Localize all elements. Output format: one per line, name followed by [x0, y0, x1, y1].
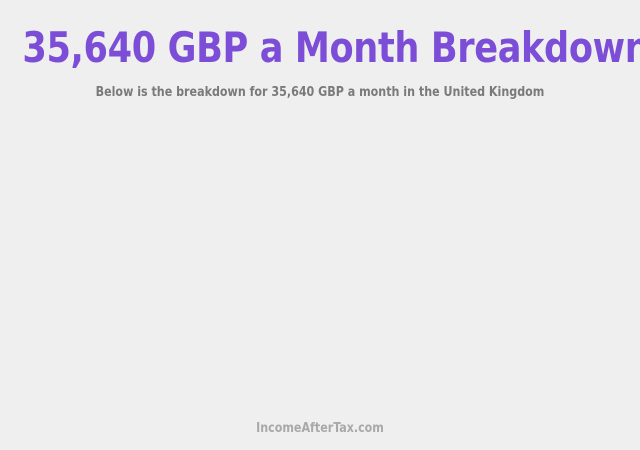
footer-watermark: IncomeAfterTax.com	[16, 421, 624, 437]
page-title: 35,640 GBP a Month Breakdown	[22, 24, 617, 72]
breakdown-page: 35,640 GBP a Month Breakdown Below is th…	[0, 0, 640, 450]
chart-region	[0, 112, 640, 412]
page-subtitle: Below is the breakdown for 35,640 GBP a …	[16, 84, 624, 101]
